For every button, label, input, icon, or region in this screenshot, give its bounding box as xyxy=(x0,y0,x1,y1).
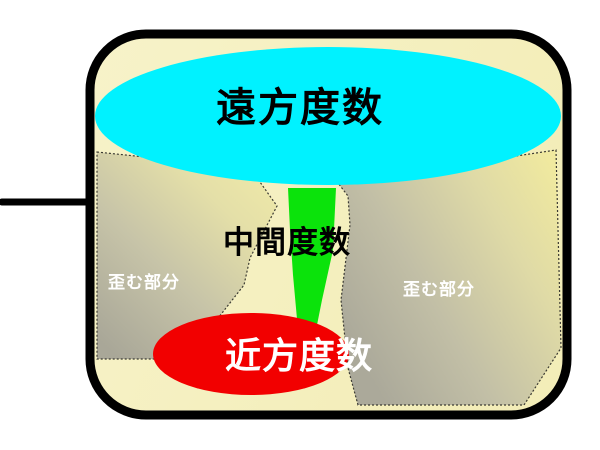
lens-diagram-svg xyxy=(0,0,600,450)
lens-diagram-canvas: 遠方度数 中間度数 近方度数 歪む部分 歪む部分 xyxy=(0,0,600,450)
near-vision-zone xyxy=(153,313,349,395)
far-vision-zone xyxy=(95,47,561,185)
distortion-zone-right xyxy=(338,150,561,405)
